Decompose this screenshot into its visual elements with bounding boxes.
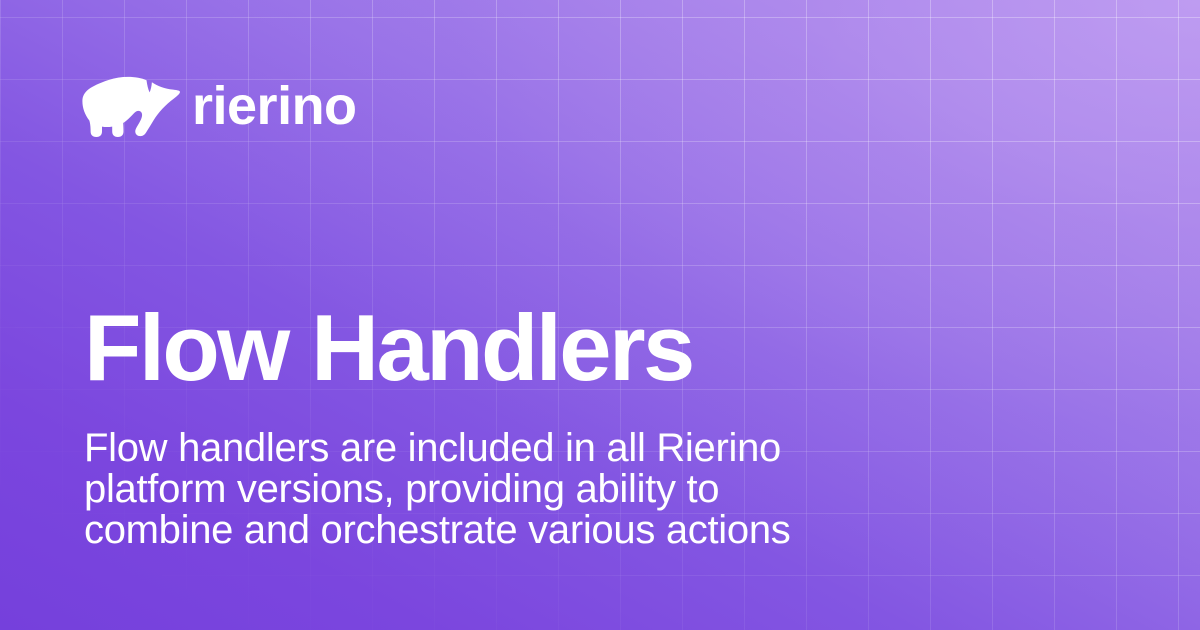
page-title: Flow Handlers	[84, 298, 693, 398]
subtitle-line: Flow handlers are included in all Rierin…	[84, 428, 844, 469]
rhino-logo-icon	[82, 75, 180, 139]
subtitle-line: platform versions, providing ability to	[84, 469, 844, 510]
hero-content: rierino Flow Handlers Flow handlers are …	[0, 0, 1200, 630]
subtitle-line: combine and orchestrate various actions	[84, 510, 844, 551]
hero-banner: rierino Flow Handlers Flow handlers are …	[0, 0, 1200, 630]
brand-logo[interactable]: rierino	[82, 74, 357, 140]
page-subtitle: Flow handlers are included in all Rierin…	[84, 428, 844, 551]
brand-wordmark: rierino	[192, 79, 357, 133]
